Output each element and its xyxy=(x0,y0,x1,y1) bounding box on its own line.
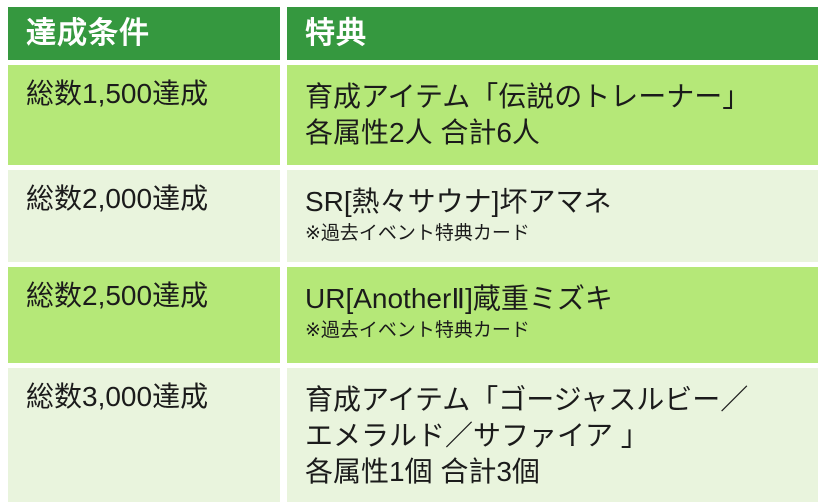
condition-text: 総数2,000達成 xyxy=(26,184,266,215)
benefit-note-text: ※過去イベント特典カード xyxy=(305,222,804,247)
table-header-row: 達成条件 特典 xyxy=(8,7,818,60)
condition-text: 総数3,000達成 xyxy=(26,382,266,413)
table-row: 総数2,000達成 SR[熱々サウナ]坏アマネ ※過去イベント特典カード xyxy=(8,170,818,262)
cell-condition: 総数1,500達成 xyxy=(8,65,280,165)
benefit-note-text: ※過去イベント特典カード xyxy=(305,319,804,344)
table-row: 総数2,500達成 UR[AnotherⅡ]蔵重ミズキ ※過去イベント特典カード xyxy=(8,267,818,363)
cell-condition: 総数2,500達成 xyxy=(8,267,280,363)
header-label-benefit: 特典 xyxy=(305,19,367,49)
cell-condition: 総数3,000達成 xyxy=(8,368,280,502)
header-label-condition: 達成条件 xyxy=(26,19,150,49)
header-cell-condition: 達成条件 xyxy=(8,7,280,60)
rewards-table: 達成条件 特典 総数1,500達成 育成アイテム「伝説のトレーナー」 各属性2人… xyxy=(8,7,818,499)
cell-benefit: SR[熱々サウナ]坏アマネ ※過去イベント特典カード xyxy=(287,170,818,262)
benefit-main-text: 育成アイテム「ゴージャスルビー／ エメラルド／サファイア 」 xyxy=(305,382,804,454)
cell-benefit: UR[AnotherⅡ]蔵重ミズキ ※過去イベント特典カード xyxy=(287,267,818,363)
cell-condition: 総数2,000達成 xyxy=(8,170,280,262)
table-row: 総数3,000達成 育成アイテム「ゴージャスルビー／ エメラルド／サファイア 」… xyxy=(8,368,818,502)
benefit-main-text: SR[熱々サウナ]坏アマネ xyxy=(305,184,804,220)
condition-text: 総数2,500達成 xyxy=(26,281,266,312)
cell-benefit: 育成アイテム「ゴージャスルビー／ エメラルド／サファイア 」 各属性1個 合計3… xyxy=(287,368,818,502)
benefit-sub-text: 各属性2人 合計6人 xyxy=(305,115,804,151)
condition-text: 総数1,500達成 xyxy=(26,79,266,110)
header-cell-benefit: 特典 xyxy=(287,7,818,60)
cell-benefit: 育成アイテム「伝説のトレーナー」 各属性2人 合計6人 xyxy=(287,65,818,165)
table-row: 総数1,500達成 育成アイテム「伝説のトレーナー」 各属性2人 合計6人 xyxy=(8,65,818,165)
benefit-sub-text: 各属性1個 合計3個 xyxy=(305,454,804,490)
benefit-main-text: UR[AnotherⅡ]蔵重ミズキ xyxy=(305,281,804,317)
benefit-main-text: 育成アイテム「伝説のトレーナー」 xyxy=(305,79,804,115)
